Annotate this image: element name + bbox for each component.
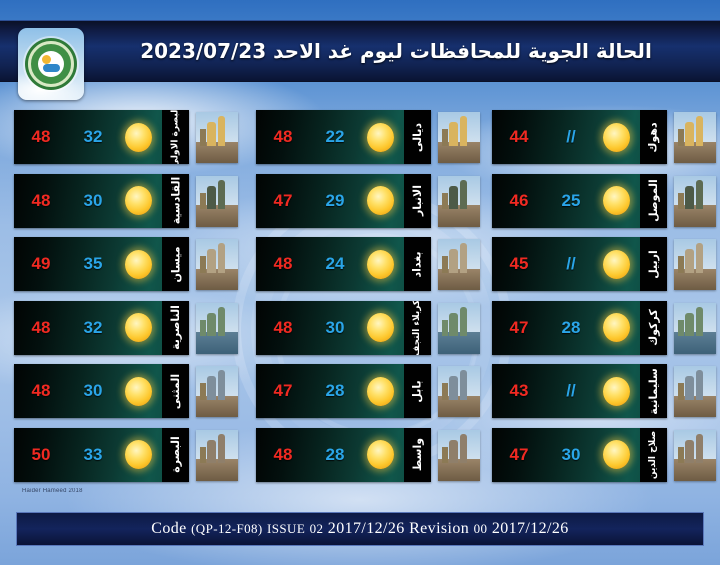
forecast-row[interactable]: 4832البصرة الاولى (14, 110, 242, 164)
thumbnail-structure-a (449, 249, 458, 272)
thumbnail-structure-c (200, 129, 205, 145)
min-temperature: // (546, 381, 596, 401)
province-name: الانبار (411, 185, 424, 216)
max-temperature: 46 (492, 191, 546, 211)
footer-issue-value: 02 (310, 521, 324, 536)
min-temperature: // (546, 254, 596, 274)
sun-disc (367, 440, 394, 469)
thumbnail-structure-a (449, 376, 458, 399)
thumbnail-structure-a (207, 186, 216, 209)
thumbnail-structure-b (218, 370, 225, 400)
thumbnail-structure-a (685, 186, 694, 209)
thumbnail-structure-a (449, 122, 458, 145)
footer-revision-value: 00 (474, 521, 488, 536)
logo-ring (28, 41, 74, 87)
forecast-row[interactable]: 4935ميسان (14, 237, 242, 291)
footer-text: Code (QP-12-F08) ISSUE 02 2017/12/26 Rev… (151, 520, 568, 538)
province-name-strip: القادسية (162, 174, 189, 228)
thumbnail-structure-b (218, 116, 225, 146)
thumbnail-structure-c (442, 256, 447, 272)
forecast-row[interactable]: 44//دهوك (492, 110, 720, 164)
thumbnail-structure-b (696, 180, 703, 210)
thumbnail-structure-b (696, 434, 703, 464)
province-name: البصرة (169, 436, 182, 473)
forecast-grid: 4832البصرة الاولى4830القادسية4935ميسان48… (0, 110, 720, 492)
min-temperature: 35 (68, 254, 118, 274)
thumbnail-structure-a (685, 313, 694, 336)
landmark-thumbnail (674, 112, 716, 163)
province-name-strip: دهوك (640, 110, 667, 164)
province-name: صلاح الدين (649, 430, 659, 478)
sun-disc (603, 440, 630, 469)
thumbnail-structure-c (442, 383, 447, 399)
min-temperature: 30 (68, 381, 118, 401)
thumbnail-structure-a (207, 376, 216, 399)
min-temperature: 28 (310, 381, 360, 401)
thumbnail-structure-b (218, 243, 225, 273)
province-name: سليمانية (647, 368, 660, 415)
sun-icon (596, 440, 636, 469)
province-name-strip: ميسان (162, 237, 189, 291)
province-name-strip: كركوك (640, 301, 667, 355)
sun-icon (360, 440, 400, 469)
forecast-row[interactable]: 4729الانبار (256, 174, 484, 228)
province-name-strip: سليمانية (640, 364, 667, 418)
thumbnail-structure-a (207, 122, 216, 145)
sun-disc (367, 250, 394, 279)
forecast-row[interactable]: 43//سليمانية (492, 364, 720, 418)
province-name-strip: الانبار (404, 174, 431, 228)
min-temperature: 28 (546, 318, 596, 338)
max-temperature: 43 (492, 381, 546, 401)
forecast-column-south: 4832البصرة الاولى4830القادسية4935ميسان48… (14, 110, 242, 492)
logo-cloud-icon (43, 64, 60, 72)
sun-disc (367, 313, 394, 342)
min-temperature: 30 (68, 191, 118, 211)
footer-band: Code (QP-12-F08) ISSUE 02 2017/12/26 Rev… (16, 512, 704, 546)
sun-disc (125, 440, 152, 469)
footer-issue-date: 2017/12/26 (328, 520, 405, 537)
sun-disc (603, 250, 630, 279)
province-name-strip: ديالى (404, 110, 431, 164)
sun-icon (596, 313, 636, 342)
min-temperature: 29 (310, 191, 360, 211)
thumbnail-structure-c (200, 193, 205, 209)
sun-icon (118, 123, 158, 152)
thumbnail-structure-a (207, 249, 216, 272)
thumbnail-structure-b (460, 434, 467, 464)
province-name: الناصرية (169, 305, 182, 350)
max-temperature: 48 (256, 127, 310, 147)
province-name-strip: واسط (404, 428, 431, 482)
sun-disc (603, 377, 630, 406)
forecast-row[interactable]: 4728كركوك (492, 301, 720, 355)
thumbnail-structure-c (200, 383, 205, 399)
landmark-thumbnail (438, 303, 480, 354)
min-temperature: 30 (546, 445, 596, 465)
min-temperature: // (546, 127, 596, 147)
max-temperature: 48 (256, 254, 310, 274)
province-name-strip: بابل (404, 364, 431, 418)
max-temperature: 50 (14, 445, 68, 465)
province-name-strip: اربيل (640, 237, 667, 291)
thumbnail-structure-b (696, 370, 703, 400)
landmark-thumbnail (674, 430, 716, 481)
forecast-row[interactable]: 4730صلاح الدين (492, 428, 720, 482)
thumbnail-structure-b (460, 307, 467, 337)
sun-icon (596, 250, 636, 279)
province-name-strip: المثنى (162, 364, 189, 418)
sun-icon (118, 250, 158, 279)
sun-disc (603, 186, 630, 215)
thumbnail-structure-a (449, 440, 458, 463)
landmark-thumbnail (438, 239, 480, 290)
sun-disc (367, 186, 394, 215)
sun-icon (360, 313, 400, 342)
province-name: ديالى (411, 122, 424, 151)
sun-disc (367, 377, 394, 406)
thumbnail-structure-b (696, 243, 703, 273)
thumbnail-structure-c (442, 320, 447, 336)
footer-code-label: Code (151, 520, 186, 537)
province-name-strip: البصرة الاولى (162, 110, 189, 164)
landmark-thumbnail (196, 430, 238, 481)
max-temperature: 48 (14, 318, 68, 338)
sun-icon (118, 313, 158, 342)
sun-icon (360, 377, 400, 406)
sun-disc (125, 377, 152, 406)
landmark-thumbnail (196, 239, 238, 290)
province-name: واسط (411, 438, 424, 471)
landmark-thumbnail (196, 303, 238, 354)
thumbnail-structure-a (207, 440, 216, 463)
sun-icon (360, 123, 400, 152)
landmark-thumbnail (674, 303, 716, 354)
sun-disc (603, 313, 630, 342)
max-temperature: 48 (256, 445, 310, 465)
landmark-thumbnail (674, 366, 716, 417)
thumbnail-structure-c (200, 256, 205, 272)
max-temperature: 47 (256, 381, 310, 401)
landmark-thumbnail (438, 112, 480, 163)
forecast-row[interactable]: 4824بغداد (256, 237, 484, 291)
thumbnail-structure-a (207, 313, 216, 336)
footer-issue-label: ISSUE (267, 521, 305, 536)
max-temperature: 48 (14, 381, 68, 401)
min-temperature: 28 (310, 445, 360, 465)
province-name: ميسان (169, 246, 182, 282)
sun-disc (125, 313, 152, 342)
sun-icon (118, 377, 158, 406)
province-name: المثنى (169, 373, 182, 408)
max-temperature: 49 (14, 254, 68, 274)
province-name: بابل (411, 380, 424, 402)
sun-disc (125, 123, 152, 152)
province-name: دهوك (647, 122, 660, 152)
logo-sun-icon (42, 55, 51, 64)
forecast-row[interactable]: 4830المثنى (14, 364, 242, 418)
footer-revision-label: Revision (409, 520, 469, 537)
thumbnail-structure-c (678, 383, 683, 399)
thumbnail-structure-a (685, 122, 694, 145)
province-name-strip: البصرة (162, 428, 189, 482)
forecast-row[interactable]: 4830القادسية (14, 174, 242, 228)
forecast-column-north: 44//دهوك4625الموصل45//اربيل4728كركوك43//… (492, 110, 720, 492)
thumbnail-structure-c (678, 320, 683, 336)
thumbnail-structure-a (685, 440, 694, 463)
sun-disc (125, 186, 152, 215)
province-name: الموصل (647, 179, 660, 222)
sun-cloud-icon (38, 51, 64, 77)
thumbnail-structure-a (685, 249, 694, 272)
max-temperature: 48 (14, 127, 68, 147)
forecast-column-center: 4822ديالى4729الانبار4824بغداد4830كربلاء … (256, 110, 484, 492)
thumbnail-structure-b (460, 243, 467, 273)
thumbnail-structure-b (696, 116, 703, 146)
sun-disc (367, 123, 394, 152)
sun-icon (360, 250, 400, 279)
author-credit: Haider Hameed 2018 (22, 488, 83, 494)
thumbnail-structure-c (442, 447, 447, 463)
max-temperature: 48 (256, 318, 310, 338)
sun-icon (118, 186, 158, 215)
footer-code-value: (QP-12-F08) (191, 521, 263, 536)
forecast-row[interactable]: 4832الناصرية (14, 301, 242, 355)
thumbnail-structure-c (200, 320, 205, 336)
forecast-row[interactable]: 5033البصرة (14, 428, 242, 482)
thumbnail-structure-c (678, 193, 683, 209)
forecast-row[interactable]: 45//اربيل (492, 237, 720, 291)
max-temperature: 45 (492, 254, 546, 274)
thumbnail-structure-b (218, 307, 225, 337)
province-name: كربلاء النجف (413, 301, 423, 355)
sun-icon (360, 186, 400, 215)
province-name-strip: صلاح الدين (640, 428, 667, 482)
province-name-strip: الناصرية (162, 301, 189, 355)
min-temperature: 30 (310, 318, 360, 338)
thumbnail-structure-b (218, 434, 225, 464)
forecast-row[interactable]: 4728بابل (256, 364, 484, 418)
page-title: الحالة الجوية للمحافظات ليوم غد الاحد 20… (96, 26, 696, 76)
max-temperature: 47 (256, 191, 310, 211)
min-temperature: 25 (546, 191, 596, 211)
landmark-thumbnail (196, 176, 238, 227)
sun-icon (596, 123, 636, 152)
sun-disc (603, 123, 630, 152)
footer-revision-date: 2017/12/26 (492, 520, 569, 537)
forecast-row[interactable]: 4830كربلاء النجف (256, 301, 484, 355)
thumbnail-structure-c (442, 129, 447, 145)
province-name-strip: الموصل (640, 174, 667, 228)
thumbnail-structure-b (696, 307, 703, 337)
sun-icon (118, 440, 158, 469)
min-temperature: 22 (310, 127, 360, 147)
thumbnail-structure-c (200, 447, 205, 463)
min-temperature: 32 (68, 318, 118, 338)
landmark-thumbnail (438, 430, 480, 481)
sun-icon (596, 377, 636, 406)
thumbnail-structure-a (685, 376, 694, 399)
thumbnail-structure-c (678, 447, 683, 463)
province-name: اربيل (647, 250, 660, 279)
landmark-thumbnail (674, 176, 716, 227)
thumbnail-structure-a (449, 313, 458, 336)
landmark-thumbnail (196, 112, 238, 163)
province-name: بغداد (411, 251, 424, 277)
sun-disc (125, 250, 152, 279)
province-name: كركوك (647, 309, 660, 346)
thumbnail-structure-a (449, 186, 458, 209)
max-temperature: 47 (492, 318, 546, 338)
forecast-row[interactable]: 4822ديالى (256, 110, 484, 164)
landmark-thumbnail (196, 366, 238, 417)
province-name: القادسية (169, 177, 182, 225)
thumbnail-structure-b (218, 180, 225, 210)
province-name-strip: كربلاء النجف (404, 301, 431, 355)
min-temperature: 24 (310, 254, 360, 274)
weather-board: الحالة الجوية للمحافظات ليوم غد الاحد 20… (0, 0, 720, 565)
forecast-row[interactable]: 4828واسط (256, 428, 484, 482)
thumbnail-structure-b (460, 370, 467, 400)
max-temperature: 44 (492, 127, 546, 147)
landmark-thumbnail (674, 239, 716, 290)
thumbnail-structure-b (460, 180, 467, 210)
max-temperature: 47 (492, 445, 546, 465)
max-temperature: 48 (14, 191, 68, 211)
sun-icon (596, 186, 636, 215)
min-temperature: 33 (68, 445, 118, 465)
thumbnail-structure-c (442, 193, 447, 209)
province-name-strip: بغداد (404, 237, 431, 291)
thumbnail-structure-c (678, 129, 683, 145)
forecast-row[interactable]: 4625الموصل (492, 174, 720, 228)
thumbnail-structure-b (460, 116, 467, 146)
province-name: البصرة الاولى (171, 110, 181, 164)
landmark-thumbnail (438, 176, 480, 227)
min-temperature: 32 (68, 127, 118, 147)
landmark-thumbnail (438, 366, 480, 417)
thumbnail-structure-c (678, 256, 683, 272)
weather-authority-logo (18, 28, 84, 100)
